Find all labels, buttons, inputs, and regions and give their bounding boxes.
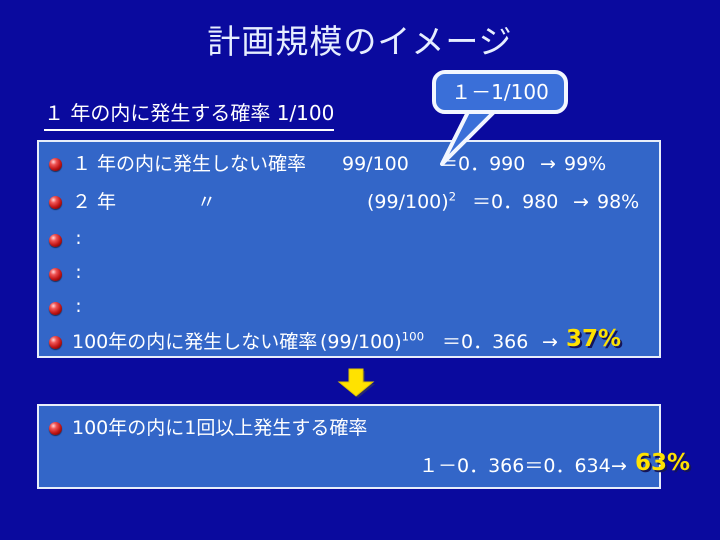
bullet-icon xyxy=(49,158,62,171)
row-dots: ∶ xyxy=(76,296,81,320)
row-label: 100年の内に発生しない確率 xyxy=(72,330,317,354)
bullet-icon xyxy=(49,234,62,247)
row-exponent: 100 xyxy=(402,330,424,344)
table-row: ∶ xyxy=(49,294,651,322)
row-content: ２ 年 〃 (99/100)2 ＝0．980 → 98% xyxy=(72,190,651,214)
bottom-result-highlight: 63% xyxy=(635,451,690,475)
row-ditto-mark: 〃 xyxy=(197,190,216,214)
row-dots: ∶ xyxy=(76,262,81,286)
table-row: ∶ xyxy=(49,260,651,288)
slide-canvas: 計画規模のイメージ １ 年の内に発生する確率 1/100 １－1/100 １ 年… xyxy=(0,0,720,540)
down-arrow-icon xyxy=(336,365,376,399)
bottom-heading: 100年の内に1回以上発生する確率 xyxy=(72,416,367,440)
table-row: １－0．366＝0．634 → 63% xyxy=(49,452,651,480)
row-result: 98% xyxy=(597,190,639,214)
row-result: 99% xyxy=(564,152,606,176)
bottom-content-box: 100年の内に1回以上発生する確率 １－0．366＝0．634 → 63% xyxy=(37,404,661,489)
row-content: 100年の内に発生しない確率 (99/100)100 ＝0．366 → 37% xyxy=(72,330,651,354)
row-content: ∶ xyxy=(72,262,651,286)
row-content: １－0．366＝0．634 → 63% xyxy=(49,454,651,478)
table-row: １ 年の内に発生しない確率 99/100 ＝0．990 → 99% xyxy=(49,150,651,178)
row-content: ∶ xyxy=(72,228,651,252)
row-expression: (99/100)2 xyxy=(367,190,456,214)
bottom-arrow: → xyxy=(611,454,627,478)
row-expression: (99/100)100 xyxy=(320,330,424,354)
table-row: ∶ xyxy=(49,226,651,254)
row-exponent: 2 xyxy=(449,190,457,204)
bullet-icon xyxy=(49,336,62,349)
bullet-icon xyxy=(49,268,62,281)
table-row: ２ 年 〃 (99/100)2 ＝0．980 → 98% xyxy=(49,188,651,216)
subtitle-text: １ 年の内に発生する確率 1/100 xyxy=(44,100,334,131)
row-expression: 99/100 xyxy=(342,152,409,176)
row-equals: ＝0．366 xyxy=(442,330,528,354)
bullet-icon xyxy=(49,196,62,209)
row-dots: ∶ xyxy=(76,228,81,252)
row-content: 100年の内に1回以上発生する確率 xyxy=(72,416,651,440)
bullet-icon xyxy=(49,422,62,435)
callout-label: １－1/100 xyxy=(451,82,549,102)
row-equals: ＝0．980 xyxy=(472,190,558,214)
row-result-highlight: 37% xyxy=(566,327,621,351)
callout-bubble: １－1/100 xyxy=(432,70,568,114)
main-content-box: １ 年の内に発生しない確率 99/100 ＝0．990 → 99% ２ 年 〃 … xyxy=(37,140,661,358)
bottom-formula: １－0．366＝0．634 xyxy=(419,454,611,478)
table-row: 100年の内に発生しない確率 (99/100)100 ＝0．366 → 37% xyxy=(49,328,651,356)
bullet-icon xyxy=(49,302,62,315)
row-label: １ 年の内に発生しない確率 xyxy=(72,152,306,176)
row-label: ２ 年 xyxy=(72,190,116,214)
row-content: ∶ xyxy=(72,296,651,320)
row-content: １ 年の内に発生しない確率 99/100 ＝0．990 → 99% xyxy=(72,152,651,176)
row-arrow: → xyxy=(540,152,556,176)
page-title: 計画規模のイメージ xyxy=(0,22,720,62)
row-arrow: → xyxy=(573,190,589,214)
row-arrow: → xyxy=(542,330,558,354)
table-row: 100年の内に1回以上発生する確率 xyxy=(49,414,651,442)
